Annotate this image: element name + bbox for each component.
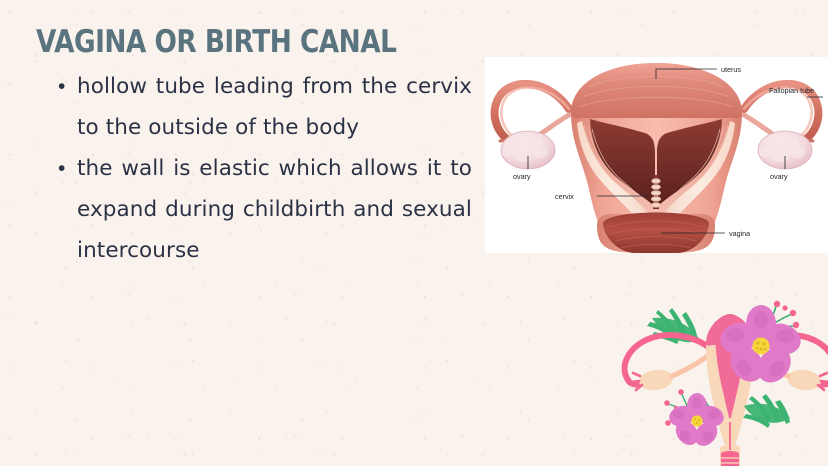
list-item: • the wall is elastic which allows it to…: [58, 148, 472, 271]
floral-uterus-decoration: [616, 288, 828, 466]
bullet-marker: •: [58, 148, 77, 189]
leaf-sprig-lower-right: [743, 394, 790, 428]
bullet-list: • hollow tube leading from the cervix to…: [58, 66, 472, 271]
label-text-ovary-right: ovary: [770, 172, 788, 181]
bullet-text: hollow tube leading from the cervix to t…: [77, 66, 472, 148]
floral-uterus-image: [616, 288, 828, 466]
list-item: • hollow tube leading from the cervix to…: [58, 66, 472, 148]
label-text-ovary-left: ovary: [513, 172, 531, 181]
anatomy-diagram-image: uterus Fallopian tube ovary ovary cervix: [485, 57, 828, 253]
page-title: Vagina or Birth Canal: [36, 24, 396, 60]
label-text-uterus: uterus: [721, 65, 741, 74]
uterus-left-arm: [625, 335, 712, 392]
label-text-cervix: cervix: [555, 192, 574, 201]
label-text-vagina: vagina: [729, 229, 750, 238]
label-text-fallopian-tube: Fallopian tube: [769, 86, 814, 95]
anatomy-diagram-panel: uterus Fallopian tube ovary ovary cervix: [485, 57, 828, 253]
cervix-shape: [652, 175, 661, 209]
bullet-text: the wall is elastic which allows it to e…: [77, 148, 472, 271]
bullet-marker: •: [58, 66, 77, 107]
slide-canvas: Vagina or Birth Canal • hollow tube lead…: [0, 0, 828, 466]
